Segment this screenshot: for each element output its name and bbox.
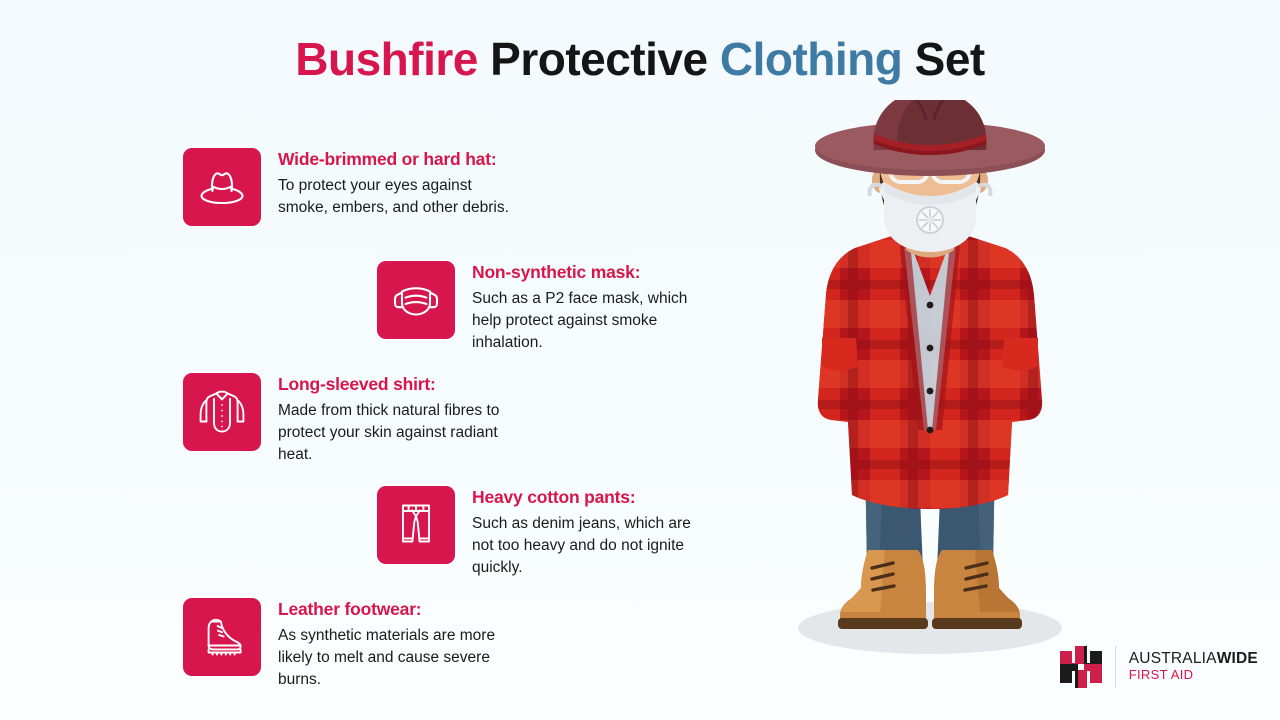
cotton-pants-icon — [388, 497, 444, 553]
list-item-heavy-cotton-pants: Heavy cotton pants: Such as denim jeans,… — [377, 486, 712, 579]
item-description: Made from thick natural fibres to protec… — [278, 400, 518, 466]
logo-tagline: FIRST AID — [1129, 667, 1194, 682]
logo-brand-australia: AUSTRALIA — [1129, 650, 1217, 667]
item-description: As synthetic materials are more likely t… — [278, 625, 518, 691]
man-illustration — [760, 100, 1100, 680]
item-text-block: Heavy cotton pants: Such as denim jeans,… — [472, 486, 712, 579]
item-description: Such as a P2 face mask, which help prote… — [472, 288, 712, 354]
leather-boot-icon — [194, 609, 250, 665]
title-word-clothing: Clothing — [720, 33, 903, 85]
ground-shadow — [798, 602, 1062, 654]
boot-right — [932, 550, 1022, 629]
item-text-block: Wide-brimmed or hard hat: To protect you… — [278, 148, 518, 219]
shirt-cuff-left — [822, 338, 858, 371]
item-text-block: Non-synthetic mask: Such as a P2 face ma… — [472, 261, 712, 354]
icon-tile-pants — [377, 486, 455, 564]
icon-tile-shirt — [183, 373, 261, 451]
australia-wide-cross-icon — [1058, 644, 1104, 690]
brand-logo: AUSTRALIAWIDE FIRST AID — [1058, 644, 1280, 690]
item-heading: Heavy cotton pants: — [472, 487, 712, 508]
infographic-canvas: Bushfire Protective Clothing Set Wide-br… — [0, 0, 1280, 720]
logo-brand-wide: WIDE — [1217, 650, 1258, 667]
logo-brand-name: AUSTRALIAWIDE — [1129, 650, 1258, 667]
list-item-non-synthetic-mask: Non-synthetic mask: Such as a P2 face ma… — [377, 261, 712, 354]
logo-divider — [1115, 646, 1116, 688]
item-heading: Long-sleeved shirt: — [278, 374, 518, 395]
logo-wordmark: AUSTRALIAWIDE FIRST AID — [1129, 651, 1280, 683]
item-heading: Leather footwear: — [278, 599, 518, 620]
long-sleeved-shirt-icon — [194, 384, 250, 440]
face-mask-icon — [388, 272, 444, 328]
protective-clothing-item-list: Wide-brimmed or hard hat: To protect you… — [0, 0, 740, 720]
title-word-set: Set — [915, 33, 985, 85]
item-text-block: Leather footwear: As synthetic materials… — [278, 598, 518, 691]
icon-tile-boot — [183, 598, 261, 676]
item-text-block: Long-sleeved shirt: Made from thick natu… — [278, 373, 518, 466]
wide-brim-hat — [815, 100, 1045, 176]
icon-tile-mask — [377, 261, 455, 339]
list-item-long-sleeved-shirt: Long-sleeved shirt: Made from thick natu… — [183, 373, 518, 466]
boot-left — [838, 550, 928, 629]
shirt-cuff-right — [1002, 338, 1038, 371]
list-item-leather-footwear: Leather footwear: As synthetic materials… — [183, 598, 518, 691]
icon-tile-hat — [183, 148, 261, 226]
wide-brim-hat-icon — [194, 159, 250, 215]
item-description: To protect your eyes against smoke, embe… — [278, 175, 518, 219]
item-heading: Non-synthetic mask: — [472, 262, 712, 283]
item-heading: Wide-brimmed or hard hat: — [278, 149, 518, 170]
list-item-wide-brimmed-hat: Wide-brimmed or hard hat: To protect you… — [183, 148, 518, 226]
item-description: Such as denim jeans, which are not too h… — [472, 513, 712, 579]
